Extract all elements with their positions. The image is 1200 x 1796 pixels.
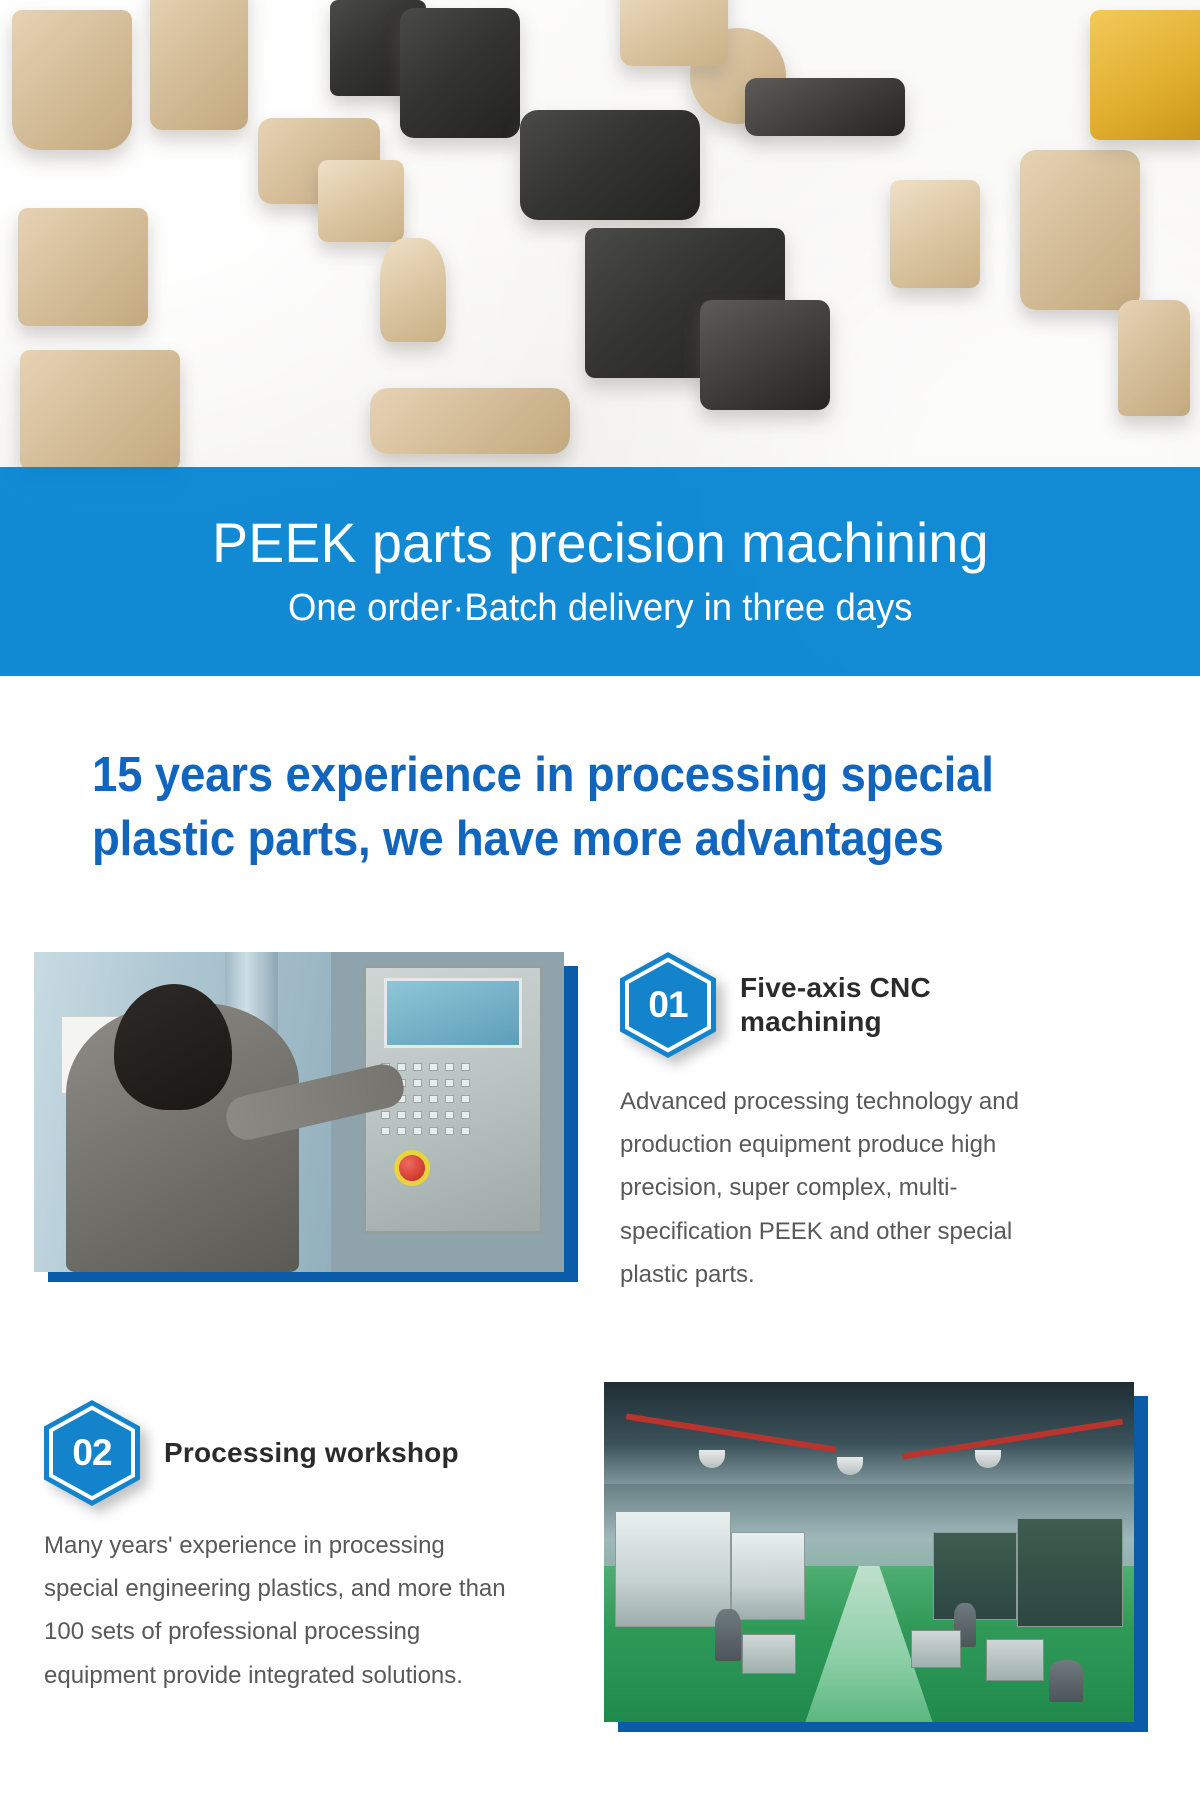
part-spool <box>12 10 132 150</box>
part-sleeve-ring <box>890 180 980 288</box>
feature-card-02-body: Many years' experience in processing spe… <box>44 1524 514 1697</box>
cnc-scene <box>34 952 564 1272</box>
part-cage-bushing <box>150 0 248 130</box>
part-shoulder-block <box>20 350 180 470</box>
feature-card-01-header: 01 Five-axis CNC machining <box>620 952 1080 1058</box>
material-cart <box>986 1639 1044 1681</box>
worker <box>715 1609 741 1661</box>
cnc-machine <box>933 1532 1018 1620</box>
workshop-scene <box>604 1382 1134 1722</box>
part-flanged-cup <box>620 0 728 66</box>
part-black-housing <box>400 8 520 138</box>
cnc-machine <box>731 1532 805 1620</box>
photo-frame-bar-right <box>1134 1396 1148 1732</box>
worker <box>1049 1660 1083 1702</box>
feature-card-02-header: 02 Processing workshop <box>44 1400 514 1506</box>
part-plug <box>1118 300 1190 416</box>
hero-parts-photo: PEEK parts precision machining One order… <box>0 0 1200 676</box>
page-headline: 15 years experience in processing specia… <box>92 744 1059 871</box>
product-detail-page: PEEK parts precision machining One order… <box>0 0 1200 1796</box>
workshop-photo-frame <box>604 1382 1144 1732</box>
hero-banner: PEEK parts precision machining One order… <box>0 467 1200 676</box>
feature-card-01-text: 01 Five-axis CNC machining Advanced proc… <box>620 952 1080 1296</box>
part-hub-bushing <box>1020 150 1140 310</box>
feature-row-02: 02 Processing workshop Many years' exper… <box>0 1392 1200 1796</box>
operator-head <box>114 984 232 1110</box>
part-ribbed-sleeve <box>318 160 404 242</box>
photo-frame-bar-right <box>564 966 578 1282</box>
feature-card-01-body: Advanced processing technology and produ… <box>620 1080 1080 1296</box>
cnc-machine <box>1017 1518 1123 1627</box>
part-manifold-block <box>520 110 700 220</box>
badge-number: 01 <box>620 952 716 1058</box>
processing-workshop-photo <box>604 1382 1134 1722</box>
part-roller-shaft <box>745 78 905 136</box>
material-cart <box>742 1634 796 1674</box>
feature-card-01-title: Five-axis CNC machining <box>740 971 1080 1038</box>
part-drilled-arm <box>370 388 570 454</box>
feature-card-02-title: Processing workshop <box>164 1436 459 1470</box>
cnc-machining-photo <box>34 952 564 1272</box>
cnc-photo-frame <box>34 952 564 1282</box>
part-drilled-block <box>700 300 830 410</box>
cnc-machine <box>615 1511 732 1627</box>
feature-card-02-text: 02 Processing workshop Many years' exper… <box>44 1400 514 1697</box>
cnc-screen <box>384 978 522 1048</box>
banner-subtitle: One order·Batch delivery in three days <box>288 588 913 630</box>
part-conical-tip <box>380 238 446 342</box>
part-amber-cup <box>1090 10 1200 140</box>
feature-row-01: 01 Five-axis CNC machining Advanced proc… <box>0 952 1200 1352</box>
material-cart <box>911 1630 961 1668</box>
hexagon-badge-icon: 01 <box>620 952 716 1058</box>
badge-number: 02 <box>44 1400 140 1506</box>
hexagon-badge-icon: 02 <box>44 1400 140 1506</box>
banner-title: PEEK parts precision machining <box>212 513 989 572</box>
part-valve-body <box>18 208 148 326</box>
